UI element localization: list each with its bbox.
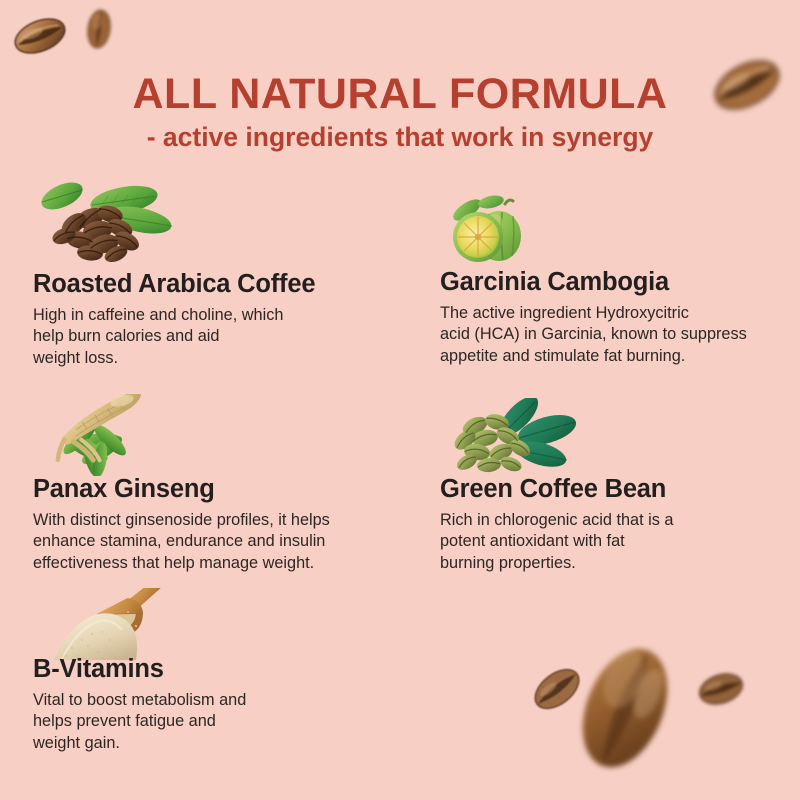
ingredient-description: The active ingredient Hydroxycitric acid…: [440, 303, 785, 368]
ingredient-description: Vital to boost metabolism and helps prev…: [33, 690, 403, 755]
page-subtitle: - active ingredients that work in synerg…: [0, 123, 800, 152]
coffee-bean-top-left-large: [10, 12, 70, 60]
ingredient-name: Panax Ginseng: [33, 475, 408, 504]
ingredient-block-b-vitamins: B-Vitamins Vital to boost metabolism and…: [33, 655, 403, 755]
coffee-bean-top-left-small: [84, 8, 114, 50]
coffee-bean-bottom-small-left: [528, 663, 586, 715]
green-coffee-beans-with-leaves-illustration: [445, 398, 581, 482]
ingredient-description: With distinct ginsenoside profiles, it h…: [33, 510, 408, 575]
ingredient-name: Green Coffee Bean: [440, 475, 785, 504]
ingredient-name: B-Vitamins: [33, 655, 403, 684]
coffee-bean-bottom-right-small: [695, 665, 747, 713]
ingredient-block-roasted-arabica-coffee: Roasted Arabica Coffee High in caffeine …: [33, 270, 403, 370]
roasted-coffee-beans-with-leaves-illustration: [28, 178, 178, 263]
page-title: ALL NATURAL FORMULA: [0, 72, 800, 117]
ingredient-block-garcinia-cambogia: Garcinia Cambogia The active ingredient …: [440, 268, 785, 368]
poster-header: ALL NATURAL FORMULA - active ingredients…: [0, 72, 800, 152]
ginseng-root-with-leaves-illustration: [32, 394, 160, 476]
ingredients-infographic-poster: ALL NATURAL FORMULA - active ingredients…: [0, 0, 800, 800]
coffee-bean-bottom-large: [565, 638, 685, 778]
ingredient-name: Garcinia Cambogia: [440, 268, 785, 297]
ingredient-block-green-coffee-bean: Green Coffee Bean Rich in chlorogenic ac…: [440, 475, 785, 575]
ingredient-description: High in caffeine and choline, which help…: [33, 305, 403, 370]
ingredient-description: Rich in chlorogenic acid that is a poten…: [440, 510, 785, 575]
garcinia-cambogia-fruit-illustration: [447, 192, 529, 270]
ingredient-name: Roasted Arabica Coffee: [33, 270, 403, 299]
ingredient-block-panax-ginseng: Panax Ginseng With distinct ginsenoside …: [33, 475, 408, 575]
